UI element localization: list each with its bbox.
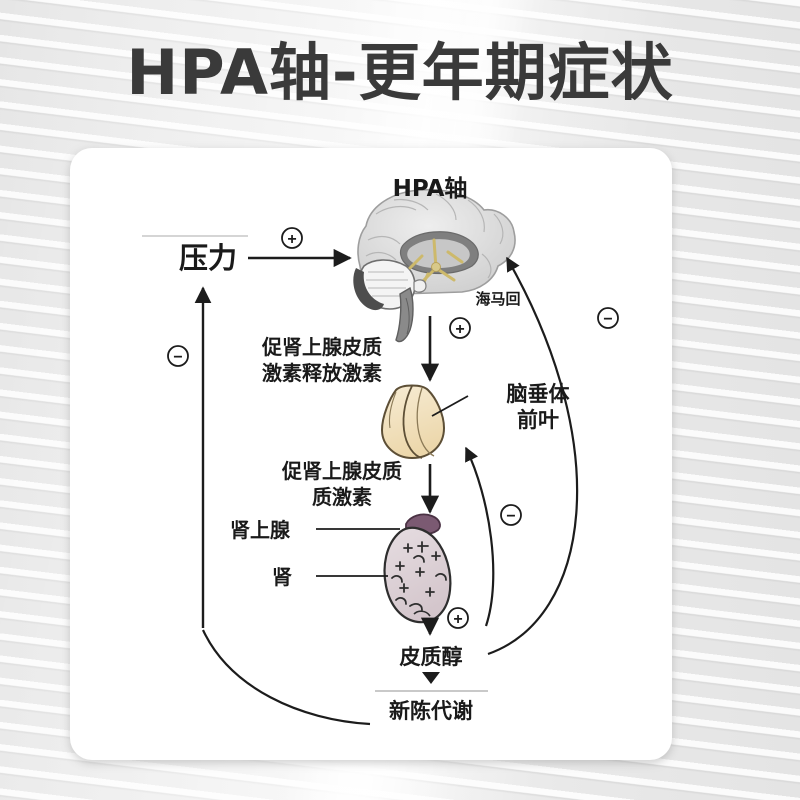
- sign-stress-to-brain: +: [282, 228, 302, 248]
- node-stress: 压力: [179, 241, 237, 275]
- sign-plus-label: +: [453, 611, 462, 628]
- sign-cortisol-to-brain: −: [598, 308, 618, 328]
- node-cortisol: 皮质醇: [400, 645, 463, 669]
- edge-label-acth-line1: 促肾上腺皮质: [281, 459, 402, 483]
- node-adrenal-gland: 肾上腺: [230, 518, 291, 542]
- sign-brain-to-pituitary: +: [450, 318, 470, 338]
- edge-label-acth-line2: 质激素: [312, 485, 372, 509]
- node-metabolism: 新陈代谢: [389, 699, 473, 723]
- diagram-card: + + + − − − HPA轴 压力 海马回 促肾上腺皮质 激素释放激素 脑垂…: [70, 148, 672, 760]
- curve-cortisol-to-pituitary: [466, 448, 493, 626]
- edge-label-crh-line1: 促肾上腺皮质: [261, 335, 382, 359]
- sign-minus-label: −: [173, 349, 182, 366]
- node-pituitary-line2: 前叶: [517, 408, 559, 432]
- page-title: HPA轴-更年期症状: [0, 42, 800, 104]
- sign-metabolism-to-stress: −: [168, 346, 188, 366]
- hpa-axis-diagram: + + + − − − HPA轴 压力 海马回 促肾上腺皮质 激素释放激素 脑垂…: [70, 148, 672, 760]
- edge-label-crh-line2: 激素释放激素: [262, 361, 382, 385]
- sign-minus-label: −: [603, 311, 612, 328]
- curve-metabolism-to-stress: [203, 630, 370, 724]
- adrenal-kidney-illustration: [385, 514, 451, 622]
- brain-illustration: [353, 190, 515, 342]
- sign-adrenal-to-cortisol: +: [448, 608, 468, 628]
- sign-plus-label: +: [287, 231, 296, 248]
- node-hippocampus: 海马回: [475, 290, 520, 308]
- sign-cortisol-to-pituitary: −: [501, 505, 521, 525]
- pituitary-illustration: [382, 386, 444, 459]
- arrow-cortisol-to-metabolism: [422, 672, 440, 684]
- diagram-heading: HPA轴: [393, 175, 468, 202]
- node-pituitary-line1: 脑垂体: [507, 382, 571, 406]
- sign-plus-label: +: [455, 321, 464, 338]
- sign-minus-label: −: [506, 508, 515, 525]
- node-kidney: 肾: [272, 565, 292, 589]
- curve-cortisol-to-brain: [488, 258, 577, 654]
